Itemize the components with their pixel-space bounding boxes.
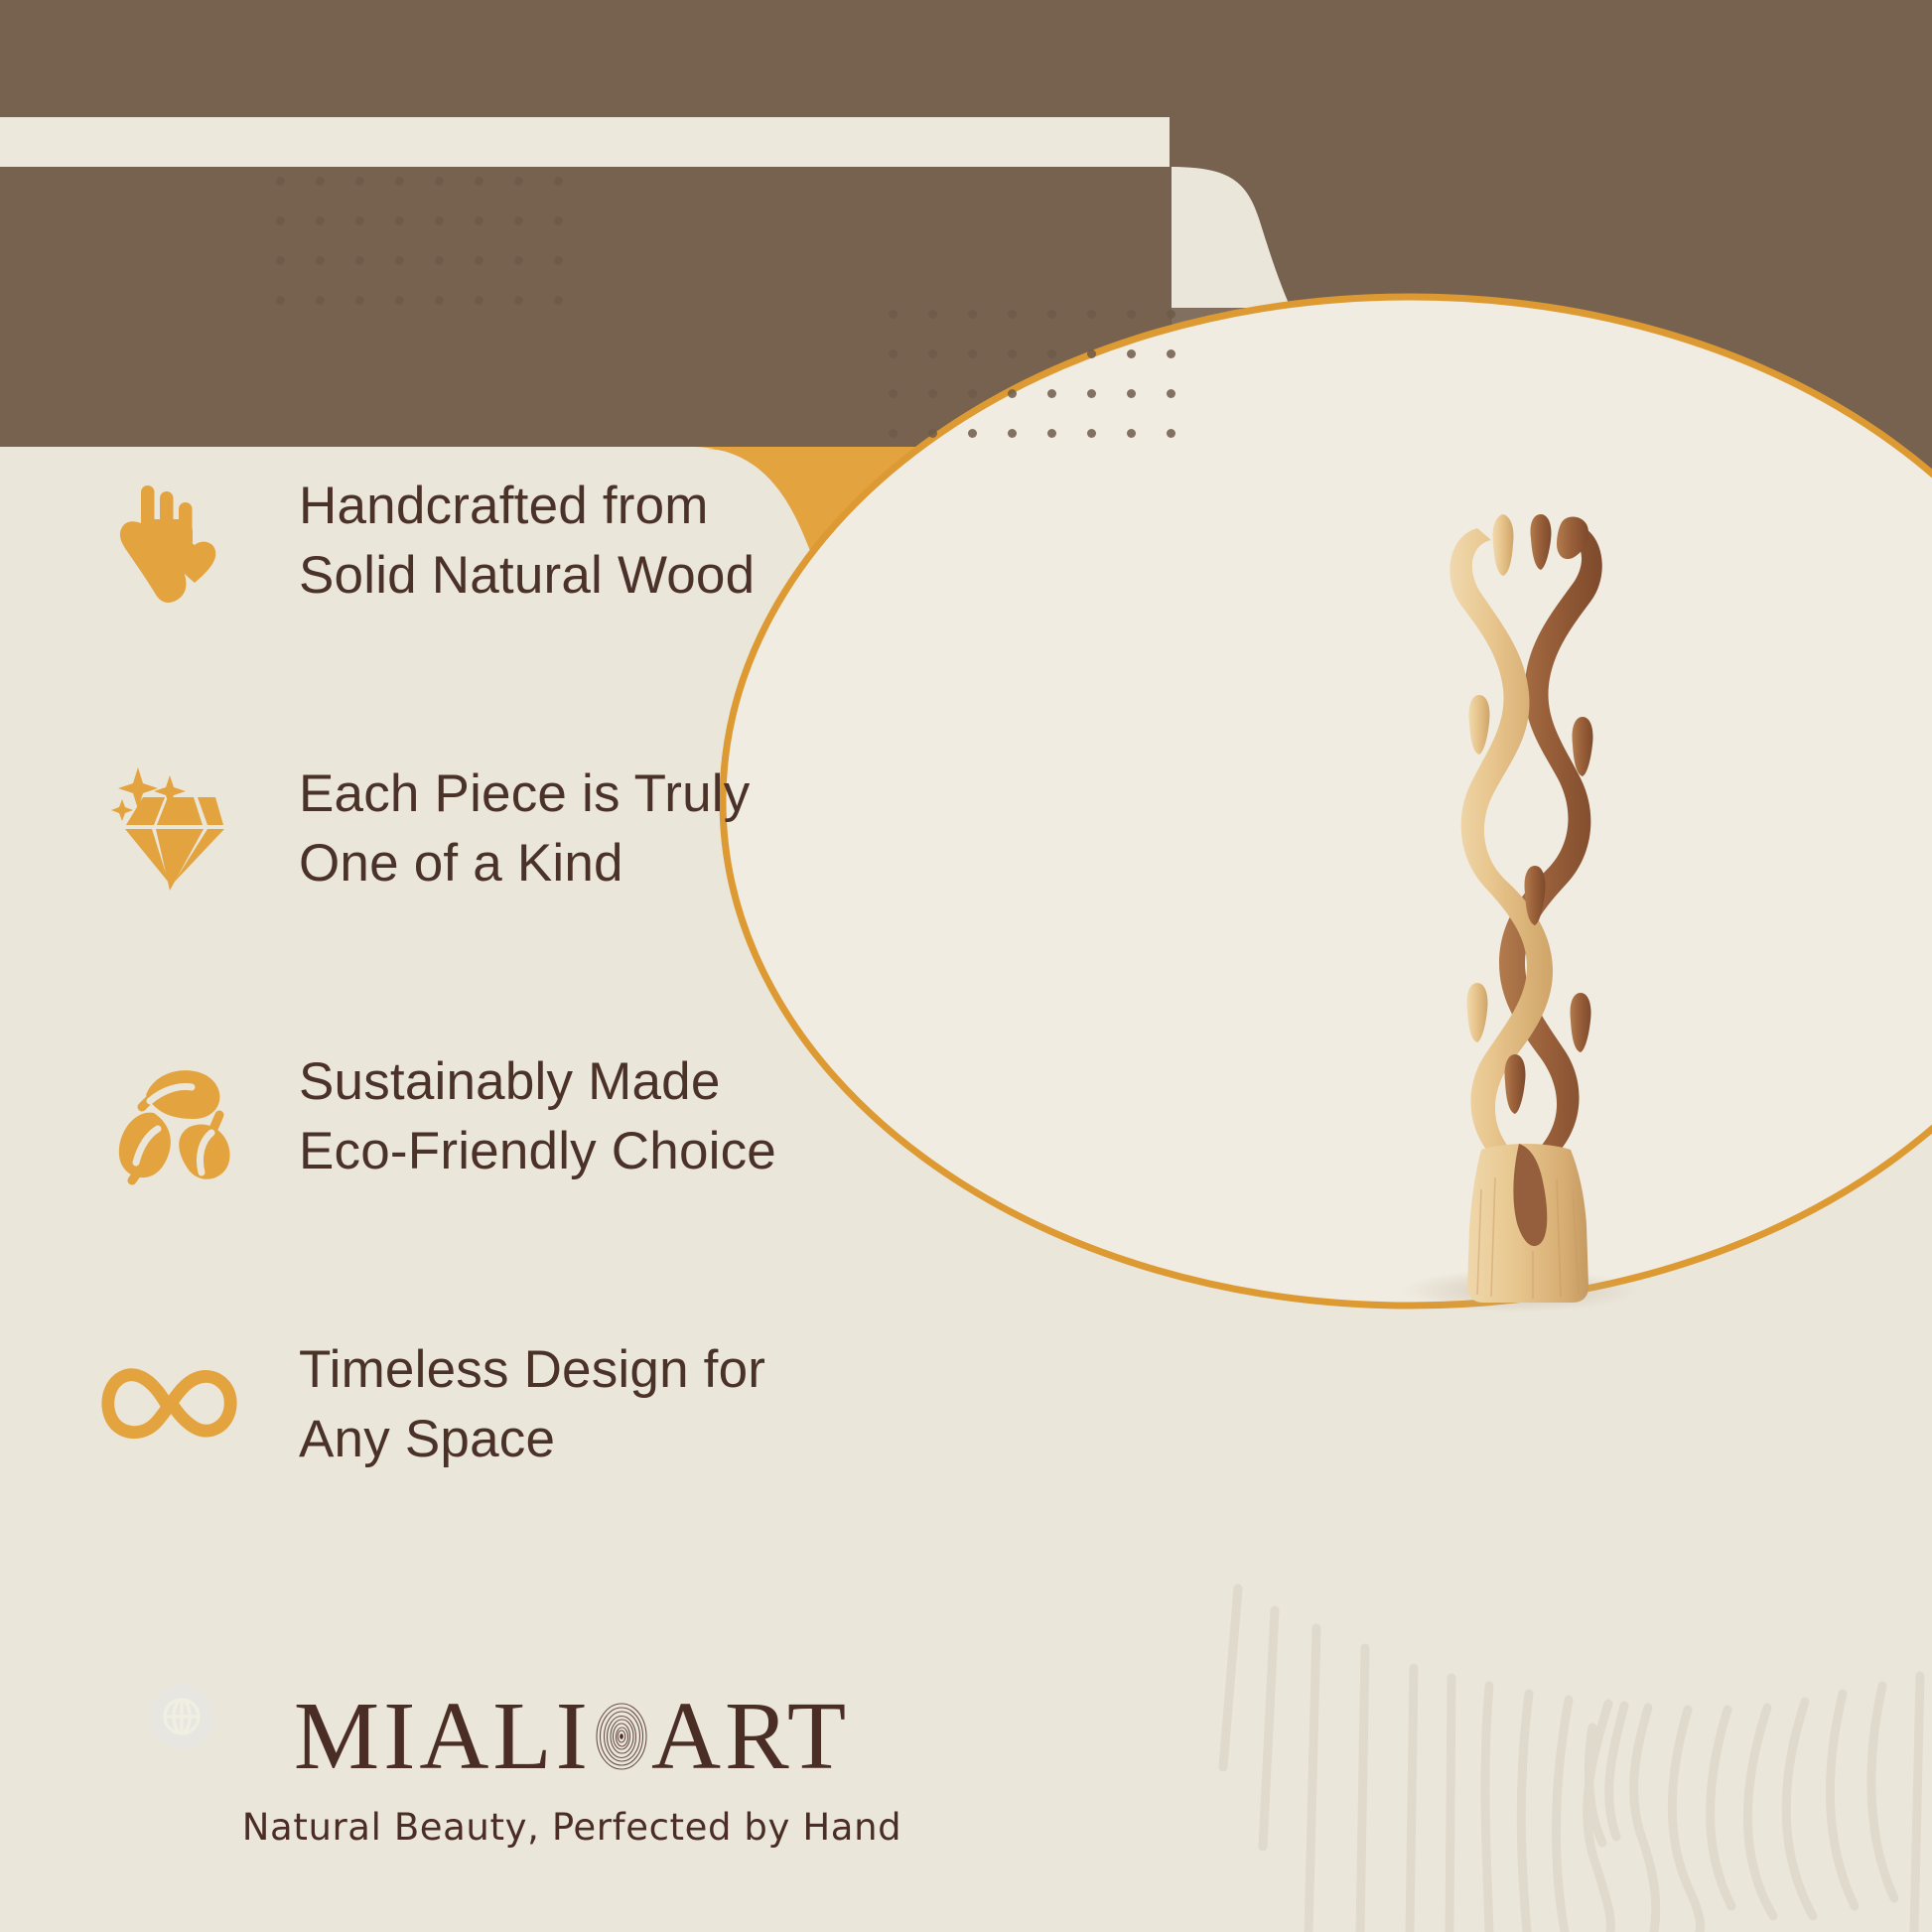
dot [395,177,404,186]
dot-row [889,429,1206,438]
brand-logo-block: MIALI ART Natural Beauty, Perfected by H… [149,1688,923,1849]
dot [316,216,325,225]
brand-name-right: ART [651,1688,850,1784]
dot [514,256,523,265]
dot [1127,310,1136,319]
dot [968,389,977,398]
dot [968,349,977,358]
dot [1087,389,1096,398]
dot [889,389,897,398]
dot [889,429,897,438]
dot [1047,310,1056,319]
dot-row [276,256,594,265]
poster-canvas: Handcrafted from Solid Natural Wood [0,0,1932,1932]
brand-name-left: MIALI [294,1688,592,1784]
dot [1167,389,1175,398]
dot [355,177,364,186]
tree-ring-icon [592,1700,651,1773]
dot [1127,349,1136,358]
dot [395,256,404,265]
dot [928,429,937,438]
brand-tagline: Natural Beauty, Perfected by Hand [220,1806,923,1849]
dot [968,429,977,438]
dot [1047,349,1056,358]
dot [514,177,523,186]
dot [1127,389,1136,398]
dot [1087,429,1096,438]
dot [276,296,285,305]
dot [475,216,483,225]
hand-heart-icon [94,468,241,615]
dot [1047,429,1056,438]
dot-grid-top-left [276,177,594,336]
twisted-wood-sculpture [1434,514,1622,1309]
feature-label: Sustainably Made Eco-Friendly Choice [299,1047,776,1186]
dot-row [889,310,1206,319]
dot [1167,429,1175,438]
dot [435,216,444,225]
dot [968,310,977,319]
dot [435,296,444,305]
dot [316,256,325,265]
dot [475,296,483,305]
dot [1008,349,1017,358]
dot-row [276,216,594,225]
dot [928,310,937,319]
dot [355,216,364,225]
dot [554,177,563,186]
globe-watermark-icon [149,1684,214,1749]
dot [1167,349,1175,358]
feature-label: Each Piece is Truly One of a Kind [299,759,750,898]
dot [1087,349,1096,358]
dot [514,216,523,225]
dot [276,177,285,186]
dot-grid-center [889,310,1206,469]
dot [554,296,563,305]
feature-item[interactable]: Timeless Design for Any Space [94,1315,908,1494]
dot [1008,310,1017,319]
dot [475,177,483,186]
dot [316,296,325,305]
dot [1087,310,1096,319]
dot [395,216,404,225]
dot [928,389,937,398]
dot [1167,310,1175,319]
dot [889,310,897,319]
dot-row [276,296,594,305]
sculpture-art [1434,514,1622,1309]
dot [395,296,404,305]
feature-item[interactable]: Sustainably Made Eco-Friendly Choice [94,1028,908,1206]
feature-item[interactable]: Each Piece is Truly One of a Kind [94,740,908,918]
dot [554,256,563,265]
dot [554,216,563,225]
feature-label: Handcrafted from Solid Natural Wood [299,472,755,611]
infinity-icon [94,1331,241,1478]
dot-row [889,389,1206,398]
dot-row [276,177,594,186]
dot [1008,429,1017,438]
brand-wordmark: MIALI ART [220,1688,923,1784]
feature-list: Handcrafted from Solid Natural Wood [94,452,908,1494]
dot [514,296,523,305]
diamond-sparkle-icon [94,756,241,902]
dot [928,349,937,358]
feature-label: Timeless Design for Any Space [299,1335,765,1474]
recycle-leaves-icon [94,1043,241,1190]
dot [355,296,364,305]
dot [475,256,483,265]
dot [276,216,285,225]
dot [276,256,285,265]
dot [1008,389,1017,398]
dot [889,349,897,358]
dot [355,256,364,265]
dot [316,177,325,186]
dot [1047,389,1056,398]
dot [435,177,444,186]
dot-row [889,349,1206,358]
dot [435,256,444,265]
feature-item[interactable]: Handcrafted from Solid Natural Wood [94,452,908,630]
dot [1127,429,1136,438]
